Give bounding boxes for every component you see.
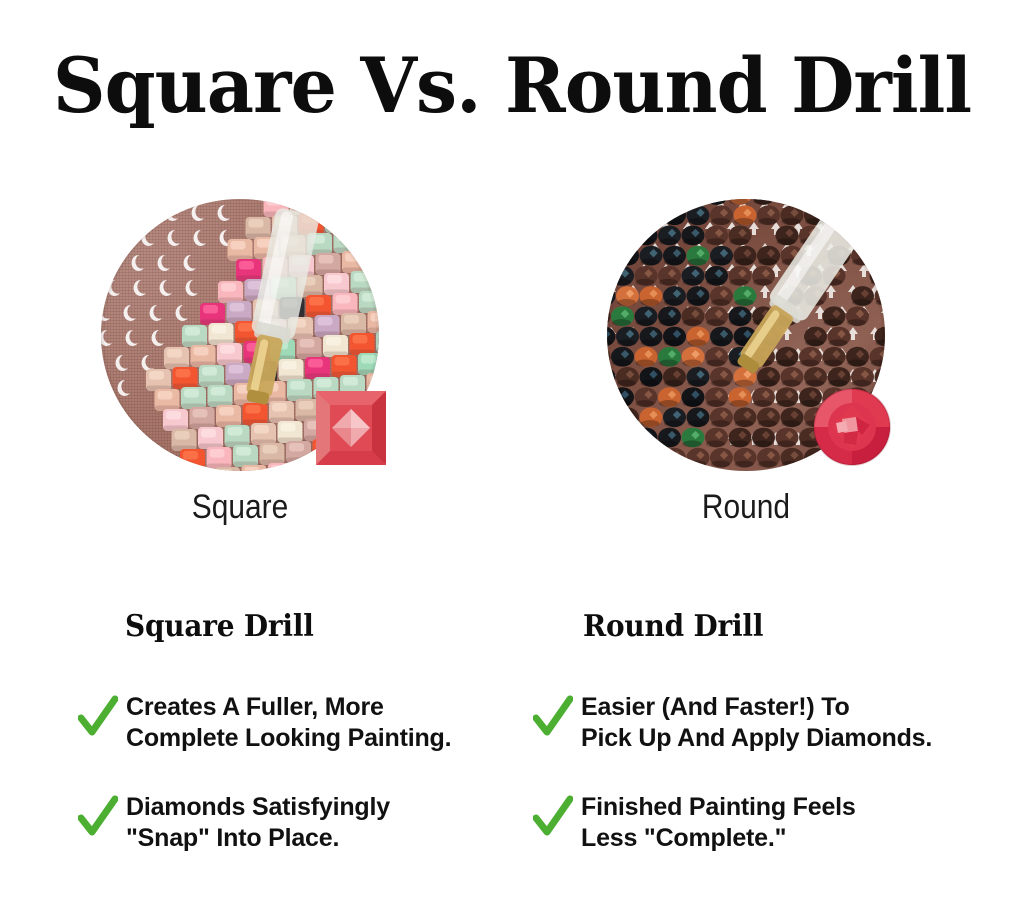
round-gem-sample bbox=[812, 387, 892, 467]
list-item-label: Diamonds Satisfyingly "Snap" Into Place. bbox=[126, 790, 390, 854]
bullet-list-round: Easier (And Faster!) To Pick Up And Appl… bbox=[533, 690, 983, 890]
infographic-page: Square Vs. Round Drill bbox=[0, 0, 1024, 923]
check-icon bbox=[78, 794, 118, 840]
caption-square: Square bbox=[118, 487, 363, 527]
list-item: Easier (And Faster!) To Pick Up And Appl… bbox=[533, 690, 983, 754]
list-item: Finished Painting Feels Less "Complete." bbox=[533, 790, 983, 854]
list-item-label: Creates A Fuller, More Complete Looking … bbox=[126, 690, 451, 754]
list-item: Diamonds Satisfyingly "Snap" Into Place. bbox=[78, 790, 508, 854]
list-item-label: Finished Painting Feels Less "Complete." bbox=[581, 790, 856, 854]
square-gem-sample bbox=[314, 389, 388, 467]
check-icon bbox=[78, 694, 118, 740]
check-icon bbox=[533, 794, 573, 840]
heading-round-drill: Round Drill bbox=[583, 609, 763, 645]
list-item-label: Easier (And Faster!) To Pick Up And Appl… bbox=[581, 690, 932, 754]
list-item: Creates A Fuller, More Complete Looking … bbox=[78, 690, 508, 754]
check-icon bbox=[533, 694, 573, 740]
page-title: Square Vs. Round Drill bbox=[20, 44, 1003, 128]
caption-round: Round bbox=[624, 487, 869, 527]
heading-square-drill: Square Drill bbox=[125, 609, 314, 645]
bullet-list-square: Creates A Fuller, More Complete Looking … bbox=[78, 690, 508, 890]
